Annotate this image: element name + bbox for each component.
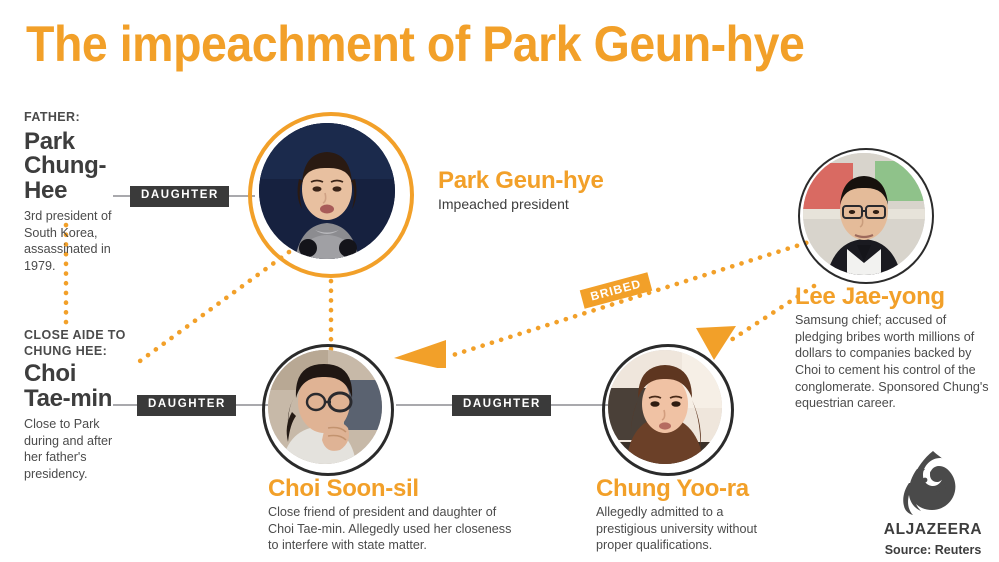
footer-branding: ALJAZEERA Source: Reuters: [869, 449, 997, 557]
choi-tae-min-name-line2: Tae-min: [24, 387, 154, 411]
label-lee-jae-yong: Lee Jae-yong Samsung chief; accused of p…: [795, 284, 991, 412]
label-park-geun-hye: Park Geun-hye Impeached president: [438, 168, 604, 213]
page-title: The impeachment of Park Geun-hye: [26, 18, 804, 71]
lee-jae-yong-description: Samsung chief; accused of pledging bribe…: [795, 312, 991, 412]
aljazeera-calligraphy-icon: [869, 449, 997, 515]
lee-jae-yong-name: Lee Jae-yong: [795, 284, 991, 309]
infographic-canvas: The impeachment of Park Geun-hye BRIBED …: [0, 0, 999, 562]
park-chung-hee-kicker: FATHER:: [24, 110, 144, 126]
park-chung-hee-name-line2: Chung-Hee: [24, 154, 144, 203]
choi-tae-min-kicker-line1: CLOSE AIDE TO: [24, 328, 154, 344]
choi-tae-min-description: Close to Park during and after her fathe…: [24, 416, 128, 482]
park-chung-hee-name-line1: Park: [24, 130, 144, 154]
chung-yoo-ra-name: Chung Yoo-ra: [596, 476, 786, 501]
badge-daughter-top: DAUGHTER: [130, 186, 229, 207]
label-chung-yoo-ra: Chung Yoo-ra Allegedly admitted to a pre…: [596, 476, 786, 554]
park-geun-hye-role: Impeached president: [438, 195, 604, 213]
label-choi-soon-sil: Choi Soon-sil Close friend of president …: [268, 476, 518, 554]
source-credit: Source: Reuters: [869, 543, 997, 557]
choi-soon-sil-description: Close friend of president and daughter o…: [268, 504, 518, 554]
badge-daughter-left: DAUGHTER: [137, 395, 236, 416]
lee-jae-yong-photo: [803, 153, 925, 275]
aljazeera-wordmark: ALJAZEERA: [869, 521, 997, 539]
choi-soon-sil-name: Choi Soon-sil: [268, 476, 518, 501]
park-geun-hye-photo: [259, 123, 395, 259]
choi-tae-min-name-line1: Choi: [24, 362, 154, 386]
person-block-park-chung-hee: FATHER: Park Chung-Hee 3rd president of …: [24, 110, 144, 274]
chung-yoo-ra-photo: [608, 350, 722, 464]
chung-yoo-ra-description: Allegedly admitted to a prestigious univ…: [596, 504, 786, 554]
choi-tae-min-kicker-line2: CHUNG HEE:: [24, 344, 154, 360]
badge-daughter-mid: DAUGHTER: [452, 395, 551, 416]
choi-soon-sil-photo: [268, 350, 382, 464]
person-block-choi-tae-min: CLOSE AIDE TO CHUNG HEE: Choi Tae-min Cl…: [24, 328, 154, 483]
park-chung-hee-description: 3rd president of South Korea, assassinat…: [24, 208, 124, 274]
portrait-choi-soon-sil: [262, 344, 392, 474]
portrait-chung-yoo-ra: [602, 344, 732, 474]
portrait-park-geun-hye: [248, 112, 414, 278]
portrait-lee-jae-yong: [798, 148, 934, 284]
park-geun-hye-name: Park Geun-hye: [438, 168, 604, 193]
